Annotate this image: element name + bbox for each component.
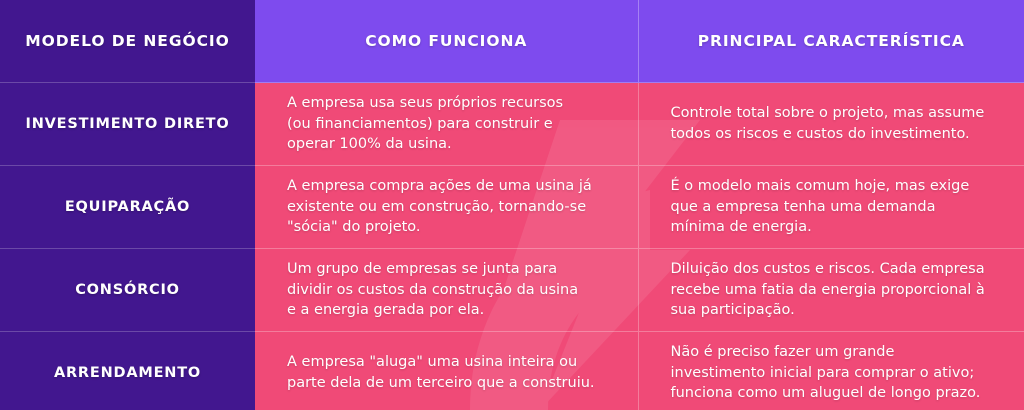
table-row: EQUIPARAÇÃO A empresa compra ações de um…: [0, 166, 1024, 249]
cell-feature-equiparacao: É o modelo mais comum hoje, mas exige qu…: [638, 166, 1024, 249]
table-row: CONSÓRCIO Um grupo de empresas se junta …: [0, 249, 1024, 332]
cell-model-investimento-direto: INVESTIMENTO DIRETO: [0, 83, 255, 166]
table-row: INVESTIMENTO DIRETO A empresa usa seus p…: [0, 83, 1024, 166]
cell-how-arrendamento: A empresa "aluga" uma usina inteira ou p…: [255, 332, 638, 410]
table-row: ARRENDAMENTO A empresa "aluga" uma usina…: [0, 332, 1024, 410]
cell-text: Um grupo de empresas se junta para divid…: [287, 259, 620, 321]
cell-how-equiparacao: A empresa compra ações de uma usina já e…: [255, 166, 638, 249]
cell-how-investimento-direto: A empresa usa seus próprios recursos (ou…: [255, 83, 638, 166]
cell-text: Controle total sobre o projeto, mas assu…: [671, 103, 1007, 144]
table-header: MODELO DE NEGÓCIO COMO FUNCIONA PRINCIPA…: [0, 0, 1024, 83]
cell-feature-arrendamento: Não é preciso fazer um grande investimen…: [638, 332, 1024, 410]
column-header-como-funciona: COMO FUNCIONA: [255, 0, 638, 83]
comparison-table-container: MODELO DE NEGÓCIO COMO FUNCIONA PRINCIPA…: [0, 0, 1024, 410]
table-body: INVESTIMENTO DIRETO A empresa usa seus p…: [0, 83, 1024, 410]
cell-text: É o modelo mais comum hoje, mas exige qu…: [671, 176, 1007, 238]
cell-model-consorcio: CONSÓRCIO: [0, 249, 255, 332]
column-header-modelo-de-negocio: MODELO DE NEGÓCIO: [0, 0, 255, 83]
cell-how-consorcio: Um grupo de empresas se junta para divid…: [255, 249, 638, 332]
cell-text: A empresa compra ações de uma usina já e…: [287, 176, 620, 238]
cell-feature-consorcio: Diluição dos custos e riscos. Cada empre…: [638, 249, 1024, 332]
cell-text: Não é preciso fazer um grande investimen…: [671, 342, 1007, 404]
cell-model-arrendamento: ARRENDAMENTO: [0, 332, 255, 410]
cell-text: A empresa "aluga" uma usina inteira ou p…: [287, 352, 620, 393]
cell-model-equiparacao: EQUIPARAÇÃO: [0, 166, 255, 249]
cell-feature-investimento-direto: Controle total sobre o projeto, mas assu…: [638, 83, 1024, 166]
cell-text: Diluição dos custos e riscos. Cada empre…: [671, 259, 1007, 321]
header-row: MODELO DE NEGÓCIO COMO FUNCIONA PRINCIPA…: [0, 0, 1024, 83]
business-model-comparison-table: MODELO DE NEGÓCIO COMO FUNCIONA PRINCIPA…: [0, 0, 1024, 410]
column-header-principal-caracteristica: PRINCIPAL CARACTERÍSTICA: [638, 0, 1024, 83]
cell-text: A empresa usa seus próprios recursos (ou…: [287, 93, 620, 155]
